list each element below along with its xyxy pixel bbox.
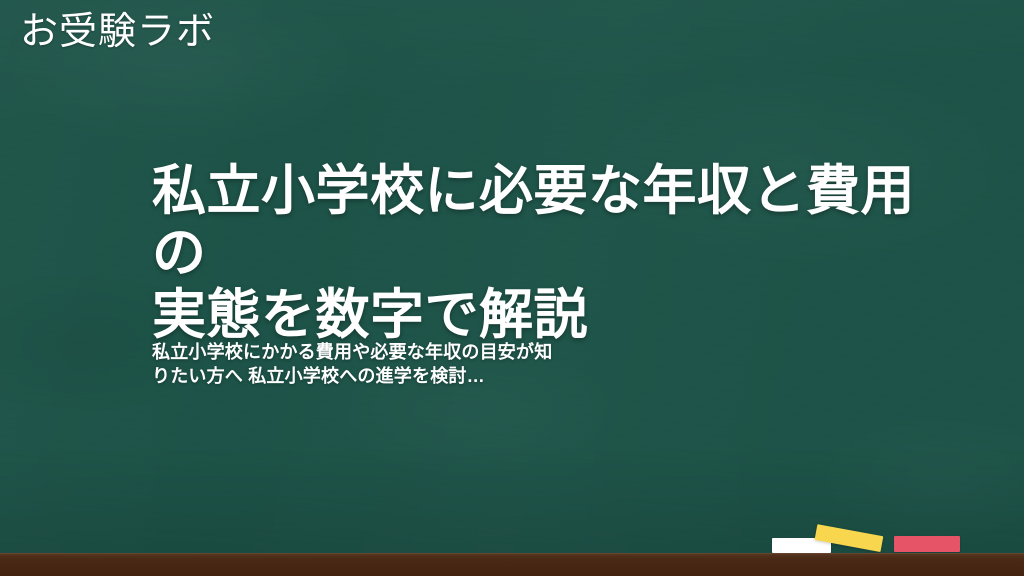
site-logo[interactable]: お受験ラボ <box>20 9 215 55</box>
headline-line-1: 私立小学校に必要な年収と費用の <box>152 160 952 284</box>
chalk-stick-red <box>894 536 960 552</box>
excerpt-line-2: りたい方へ 私立小学校への進学を検討… <box>152 364 672 388</box>
thumbnail-canvas: お受験ラボ 私立小学校に必要な年収と費用の 実態を数字で解説 私立小学校にかかる… <box>0 0 1024 576</box>
headline-line-2: 実態を数字で解説 <box>152 284 952 346</box>
headline-title: 私立小学校に必要な年収と費用の 実態を数字で解説 <box>152 160 952 346</box>
chalk-tray-ledge <box>0 553 1024 576</box>
article-excerpt: 私立小学校にかかる費用や必要な年収の目安が知 りたい方へ 私立小学校への進学を検… <box>152 340 672 388</box>
excerpt-line-1: 私立小学校にかかる費用や必要な年収の目安が知 <box>152 340 672 364</box>
